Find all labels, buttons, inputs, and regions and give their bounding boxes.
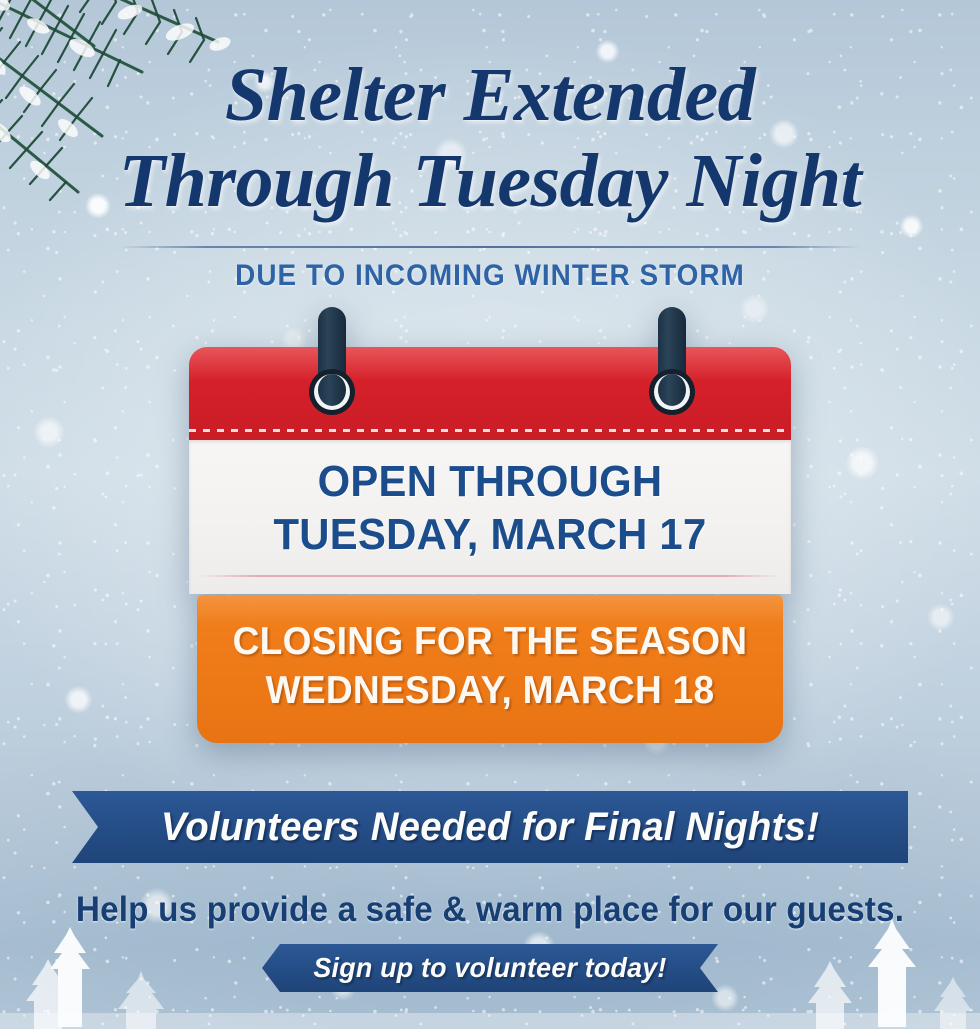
volunteers-ribbon-label: Volunteers Needed for Final Nights! — [89, 791, 892, 863]
binder-ring-left-icon — [309, 307, 355, 417]
calendar-card: OPEN THROUGH TUESDAY, MARCH 17 CLOSING F… — [189, 347, 791, 743]
calendar-perforation-line — [189, 429, 791, 432]
calendar-red-gloss — [189, 347, 791, 381]
support-message: Help us provide a safe & warm place for … — [25, 890, 956, 930]
headline-line-1: Shelter Extended — [0, 52, 980, 138]
binder-ring-hole — [658, 374, 686, 406]
calendar-closing-line-2: WEDNESDAY, MARCH 18 — [212, 666, 769, 715]
calendar-open-text: OPEN THROUGH TUESDAY, MARCH 17 — [204, 455, 776, 561]
calendar-ruled-line — [199, 575, 781, 577]
poster-headline: Shelter Extended Through Tuesday Night — [0, 52, 980, 224]
calendar-closing-line-1: CLOSING FOR THE SEASON — [212, 617, 769, 666]
calendar-open-line-2: TUESDAY, MARCH 17 — [204, 508, 776, 561]
calendar-red-header — [189, 347, 791, 440]
binder-ring-right-icon — [649, 307, 695, 417]
headline-line-2: Through Tuesday Night — [0, 138, 980, 224]
calendar-closing-text: CLOSING FOR THE SEASON WEDNESDAY, MARCH … — [212, 617, 769, 715]
winter-shelter-poster: Shelter Extended Through Tuesday Night D… — [0, 0, 980, 1029]
binder-ring-hole — [318, 374, 346, 406]
signup-cta-label[interactable]: Sign up to volunteer today! — [271, 944, 709, 992]
subhead-text: DUE TO INCOMING WINTER STORM — [34, 259, 945, 293]
headline-divider — [118, 246, 862, 248]
calendar-open-line-1: OPEN THROUGH — [204, 455, 776, 508]
